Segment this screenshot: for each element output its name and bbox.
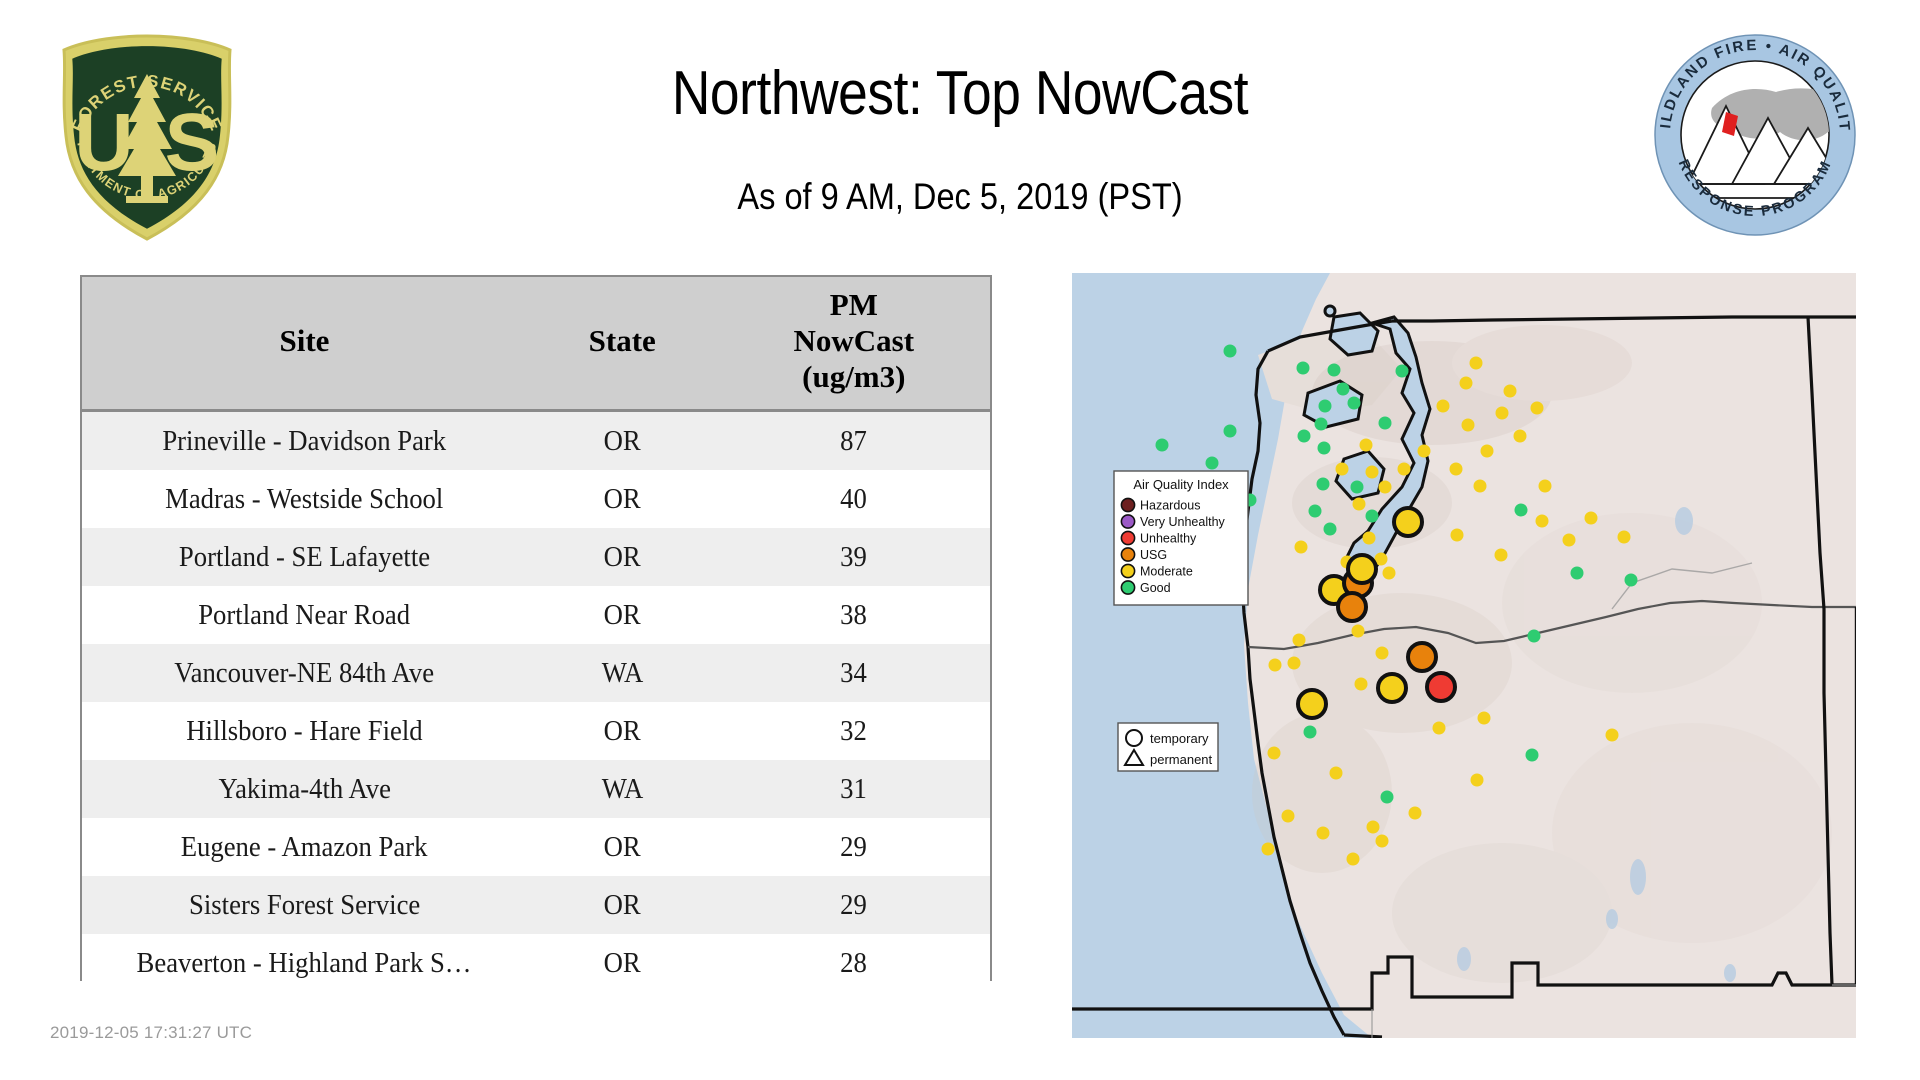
monitor-dot-small[interactable] [1396, 365, 1409, 378]
air-quality-map[interactable]: Air Quality Index HazardousVery Unhealth… [1072, 273, 1856, 1038]
monitor-dot-small[interactable] [1360, 439, 1373, 452]
table-row[interactable]: Sisters Forest ServiceOR29 [82, 876, 990, 934]
monitor-dot-small[interactable] [1315, 418, 1328, 431]
page-subtitle: As of 9 AM, Dec 5, 2019 (PST) [115, 175, 1805, 219]
monitor-dot-small[interactable] [1298, 430, 1311, 443]
monitor-dot-small[interactable] [1474, 480, 1487, 493]
monitor-dot-small[interactable] [1462, 419, 1475, 432]
monitor-dot-small[interactable] [1381, 791, 1394, 804]
monitor-dot-small[interactable] [1304, 726, 1317, 739]
monitor-dot-small[interactable] [1437, 400, 1450, 413]
monitor-dot-small[interactable] [1470, 357, 1483, 370]
state-cell: WA [527, 644, 718, 702]
aqi-legend-swatch [1121, 581, 1134, 594]
monitor-dot-small[interactable] [1351, 481, 1364, 494]
monitor-dot-small[interactable] [1156, 439, 1169, 452]
monitor-dot-small[interactable] [1353, 498, 1366, 511]
monitor-dot-small[interactable] [1317, 827, 1330, 840]
monitor-dot-small[interactable] [1347, 853, 1360, 866]
site-cell: Yakima-4th Ave [82, 760, 527, 818]
monitor-dot-small[interactable] [1318, 442, 1331, 455]
monitor-dot-small[interactable] [1531, 402, 1544, 415]
monitor-dot-small[interactable] [1504, 385, 1517, 398]
monitor-dot-small[interactable] [1348, 397, 1361, 410]
aqi-legend-label: Hazardous [1140, 499, 1200, 513]
monitor-dot-small[interactable] [1478, 712, 1491, 725]
site-cell: Madras - Westside School [82, 470, 527, 528]
aqi-legend-label: USG [1140, 548, 1167, 562]
monitor-dot-small[interactable] [1536, 515, 1549, 528]
monitor-dot-small[interactable] [1418, 445, 1431, 458]
monitor-dot-yakima-4th-ave[interactable] [1394, 508, 1422, 536]
aqi-legend-swatch [1121, 564, 1134, 577]
monitor-dot-small[interactable] [1433, 722, 1446, 735]
monitor-dot-small[interactable] [1224, 345, 1237, 358]
monitor-dot-small[interactable] [1268, 747, 1281, 760]
monitor-dot-small[interactable] [1309, 505, 1322, 518]
generated-timestamp: 2019-12-05 17:31:27 UTC [50, 1023, 252, 1043]
monitor-dot-small[interactable] [1337, 383, 1350, 396]
monitor-dot-small[interactable] [1539, 480, 1552, 493]
monitor-dot-madras-westside-school[interactable] [1408, 643, 1436, 671]
monitor-dot-small[interactable] [1379, 481, 1392, 494]
monitor-dot-small[interactable] [1383, 567, 1396, 580]
monitor-dot-small[interactable] [1206, 457, 1219, 470]
table-row[interactable]: Beaverton - Highland Park S…OR28 [82, 934, 990, 992]
pm-header-line-2: NowCast [722, 323, 986, 359]
wfaqrp-logo: WILDLAND FIRE • AIR QUALITY RESPONSE PRO… [1652, 32, 1858, 238]
pm-nowcast-cell: 29 [718, 818, 990, 876]
aqi-legend-label: Good [1140, 581, 1171, 595]
monitor-dot-small[interactable] [1376, 647, 1389, 660]
monitor-dot-prineville-davidson-park[interactable] [1427, 673, 1455, 701]
column-header-pm-nowcast[interactable]: PM NowCast (ug/m3) [718, 277, 990, 411]
pm-nowcast-cell: 28 [718, 934, 990, 992]
monitor-dot-small[interactable] [1618, 531, 1631, 544]
aqi-legend-swatch [1121, 515, 1134, 528]
state-cell: WA [527, 760, 718, 818]
table-row[interactable]: Portland Near RoadOR38 [82, 586, 990, 644]
monitor-dot-small[interactable] [1324, 523, 1337, 536]
monitor-dot-small[interactable] [1514, 430, 1527, 443]
monitor-dot-small[interactable] [1585, 512, 1598, 525]
slide-canvas: FOREST SERVICE DEPARTMENT OF AGRICULTURE… [0, 0, 1920, 1080]
column-header-site[interactable]: Site [82, 277, 527, 411]
pm-nowcast-cell: 32 [718, 702, 990, 760]
table-body: Prineville - Davidson ParkOR87Madras - W… [82, 411, 990, 993]
aqi-legend-swatch [1121, 548, 1134, 561]
pm-header-line-1: PM [722, 287, 986, 323]
monitor-dot-small[interactable] [1367, 821, 1380, 834]
aqi-legend-label: Moderate [1140, 565, 1193, 579]
aqi-legend-swatch [1121, 531, 1134, 544]
table-header-row: Site State PM NowCast (ug/m3) [82, 277, 990, 411]
monitor-dot-small[interactable] [1376, 835, 1389, 848]
site-cell: Portland Near Road [82, 586, 527, 644]
table-row[interactable]: Vancouver-NE 84th AveWA34 [82, 644, 990, 702]
monitor-dot-small[interactable] [1319, 400, 1332, 413]
monitor-dot-sisters-forest-service[interactable] [1378, 674, 1406, 702]
state-cell: OR [527, 934, 718, 992]
pm-nowcast-cell: 40 [718, 470, 990, 528]
monitor-dot-portland-near-road[interactable] [1338, 593, 1366, 621]
state-cell: OR [527, 470, 718, 528]
monitor-dot-small[interactable] [1495, 549, 1508, 562]
monitor-dot-small[interactable] [1352, 625, 1365, 638]
monitor-dot-small[interactable] [1450, 463, 1463, 476]
state-cell: OR [527, 702, 718, 760]
monitor-dot-small[interactable] [1363, 532, 1376, 545]
monitor-dot-vancouver-ne-84th-ave[interactable] [1348, 555, 1376, 583]
monitor-dot-eugene-amazon-park[interactable] [1298, 690, 1326, 718]
monitor-dot-small[interactable] [1563, 534, 1576, 547]
monitor-dot-small[interactable] [1282, 810, 1295, 823]
monitor-dot-small[interactable] [1571, 567, 1584, 580]
aqi-legend-label: Very Unhealthy [1140, 515, 1226, 529]
aqi-legend-label: Unhealthy [1140, 532, 1197, 546]
table-row[interactable]: Madras - Westside SchoolOR40 [82, 470, 990, 528]
monitor-dot-small[interactable] [1366, 510, 1379, 523]
site-cell: Prineville - Davidson Park [82, 411, 527, 471]
monitor-dot-small[interactable] [1409, 807, 1422, 820]
pm-nowcast-cell: 31 [718, 760, 990, 818]
monitor-dot-small[interactable] [1625, 574, 1638, 587]
monitor-dot-small[interactable] [1366, 466, 1379, 479]
aqi-legend-title: Air Quality Index [1133, 477, 1229, 492]
monitor-dot-small[interactable] [1451, 529, 1464, 542]
site-cell: Portland - SE Lafayette [82, 528, 527, 586]
monitor-dot-small[interactable] [1330, 767, 1343, 780]
monitor-dot-small[interactable] [1526, 749, 1539, 762]
table-row[interactable]: Eugene - Amazon ParkOR29 [82, 818, 990, 876]
monitor-dot-small[interactable] [1528, 630, 1541, 643]
monitor-dot-small[interactable] [1481, 445, 1494, 458]
table-row[interactable]: Yakima-4th AveWA31 [82, 760, 990, 818]
monitor-dot-small[interactable] [1224, 425, 1237, 438]
monitor-dot-small[interactable] [1293, 634, 1306, 647]
monitor-dot-small[interactable] [1496, 407, 1509, 420]
state-cell: OR [527, 411, 718, 471]
monitor-dot-small[interactable] [1471, 774, 1484, 787]
monitor-dot-small[interactable] [1317, 478, 1330, 491]
monitor-dot-small[interactable] [1515, 504, 1528, 517]
pm-header-line-3: (ug/m3) [722, 359, 986, 395]
state-cell: OR [527, 586, 718, 644]
permanent-label: permanent [1150, 752, 1213, 767]
state-cell: OR [527, 818, 718, 876]
monitor-dot-small[interactable] [1379, 417, 1392, 430]
table-row[interactable]: Portland - SE LafayetteOR39 [82, 528, 990, 586]
state-cell: OR [527, 528, 718, 586]
aqi-legend-swatch [1121, 498, 1134, 511]
monitor-dot-small[interactable] [1297, 362, 1310, 375]
state-cell: OR [527, 876, 718, 934]
site-cell: Sisters Forest Service [82, 876, 527, 934]
page-title: Northwest: Top NowCast [134, 58, 1785, 130]
site-cell: Eugene - Amazon Park [82, 818, 527, 876]
monitor-dot-small[interactable] [1460, 377, 1473, 390]
monitor-dot-small[interactable] [1606, 729, 1619, 742]
column-header-state[interactable]: State [527, 277, 718, 411]
monitor-dot-small[interactable] [1295, 541, 1308, 554]
monitor-dot-small[interactable] [1355, 678, 1368, 691]
pm-nowcast-cell: 38 [718, 586, 990, 644]
site-cell: Beaverton - Highland Park S… [82, 934, 527, 992]
monitor-dot-small[interactable] [1288, 657, 1301, 670]
pm-nowcast-cell: 39 [718, 528, 990, 586]
monitor-dot-small[interactable] [1336, 463, 1349, 476]
monitor-dot-small[interactable] [1398, 463, 1411, 476]
monitor-dot-small[interactable] [1269, 659, 1282, 672]
table-row[interactable]: Prineville - Davidson ParkOR87 [82, 411, 990, 471]
monitor-dot-small[interactable] [1262, 843, 1275, 856]
pm-nowcast-cell: 34 [718, 644, 990, 702]
site-cell: Vancouver-NE 84th Ave [82, 644, 527, 702]
temporary-label: temporary [1150, 731, 1209, 746]
pm-nowcast-cell: 29 [718, 876, 990, 934]
monitor-dot-small[interactable] [1328, 364, 1341, 377]
table-row[interactable]: Hillsboro - Hare FieldOR32 [82, 702, 990, 760]
monitor-type-legend: temporary permanent [1118, 723, 1218, 771]
aqi-legend: Air Quality Index HazardousVery Unhealth… [1114, 471, 1248, 605]
pm-nowcast-cell: 87 [718, 411, 990, 471]
top-nowcast-table: Site State PM NowCast (ug/m3) Prineville… [80, 275, 992, 981]
site-cell: Hillsboro - Hare Field [82, 702, 527, 760]
